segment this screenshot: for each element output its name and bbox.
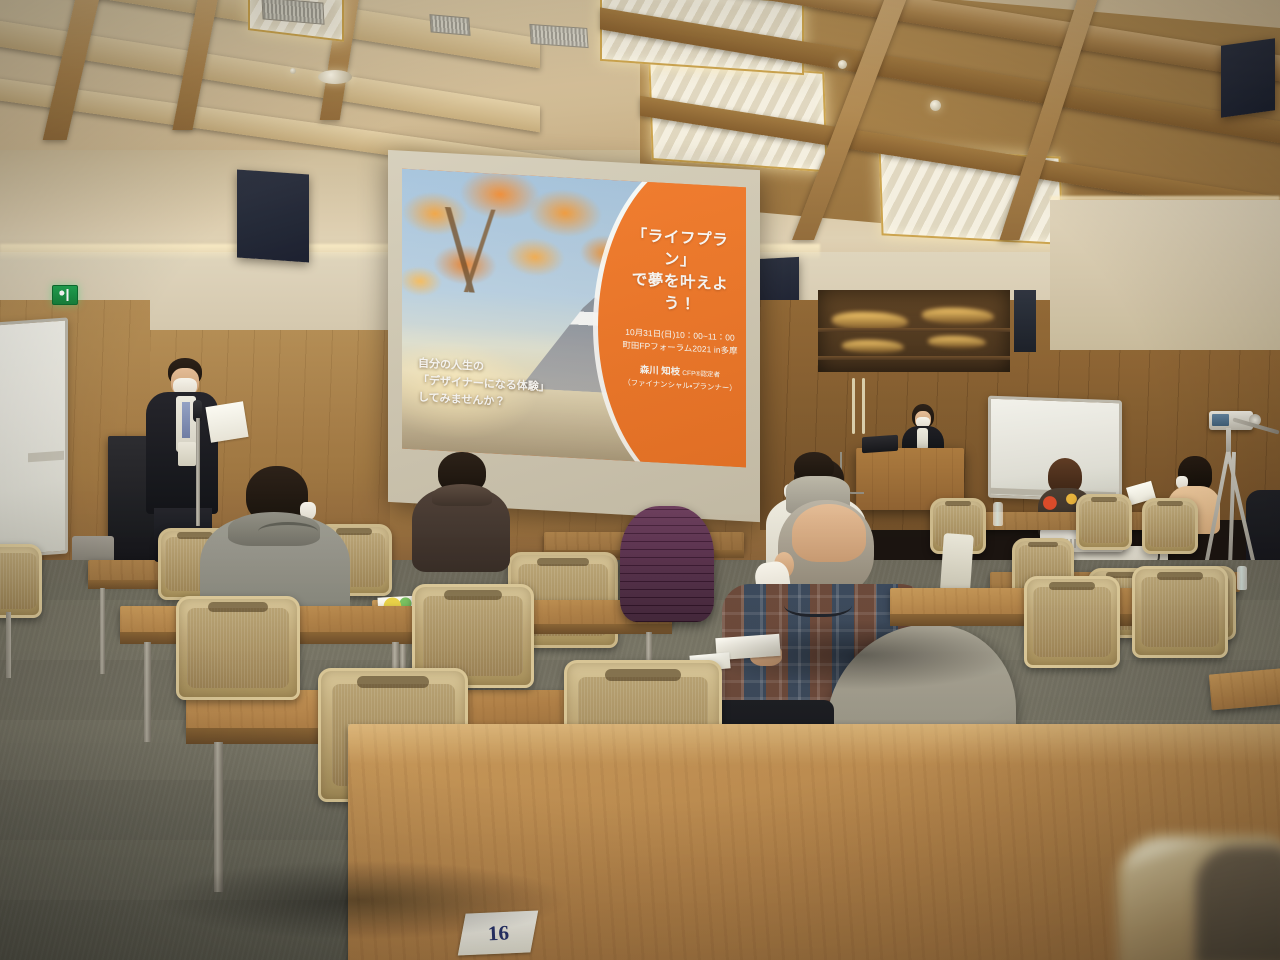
wall-speaker-panel-left xyxy=(237,169,309,262)
water-bottle xyxy=(993,502,1003,526)
ceiling-downlight-3 xyxy=(838,60,847,69)
alcove-slat-1 xyxy=(818,328,1010,332)
brown-hoodie-hood xyxy=(432,484,492,506)
door-handle-right-1 xyxy=(852,378,855,434)
chair-left-edge xyxy=(0,544,42,618)
emergency-exit-icon xyxy=(52,285,78,305)
chair-pad xyxy=(423,596,523,675)
mc-script-paper xyxy=(205,401,248,443)
camcorder-screen xyxy=(1212,414,1229,426)
elder-scalp xyxy=(792,504,866,562)
alcove-glow-4 xyxy=(928,336,986,348)
grey-hoodie-drawcord xyxy=(258,522,318,541)
ceiling-downlight-4 xyxy=(930,100,941,111)
chair-handle-slot xyxy=(1049,582,1095,590)
chair-pad xyxy=(1147,505,1193,548)
chair-pad xyxy=(1141,577,1220,647)
chair-handle-slot xyxy=(1091,497,1118,502)
slide-right-text-block: 「ライフプラン」 で夢を叶えよう！ 10月31日(日)10：00~11：00 町… xyxy=(620,224,740,393)
wall-speaker-panel-far-right xyxy=(1221,38,1275,118)
chair-handle-slot xyxy=(208,602,268,611)
alcove-slat-2 xyxy=(818,356,1010,360)
chair-pad xyxy=(1081,501,1127,544)
slide-speaker-name: 森川 知枝 xyxy=(640,364,680,377)
wall-upper-right-plaster xyxy=(1050,200,1280,350)
chair-handle-slot xyxy=(1157,572,1203,580)
door-handle-right-2 xyxy=(862,378,865,434)
mc-lanyard-badge xyxy=(178,442,196,466)
chair-pad xyxy=(1033,587,1112,657)
chair-back-r3 xyxy=(1142,498,1198,554)
presenter-blouse xyxy=(917,428,928,450)
alcove-glow-3 xyxy=(842,340,904,353)
ceiling-vent-3 xyxy=(529,24,588,48)
chair-right-1 xyxy=(1024,576,1120,668)
shadow-under-back-tables xyxy=(700,620,1020,690)
chair-handle-slot xyxy=(1157,501,1184,506)
shadow-under-front-table xyxy=(150,860,570,940)
water-bottle-2 xyxy=(1237,566,1247,590)
whiteboard-left xyxy=(0,317,68,558)
slide-speaker-cert: CFP®認定者 xyxy=(682,370,720,379)
chair-handle-slot xyxy=(357,676,429,688)
slide-left-text-block: 自分の人生の 「デザイナーになる体験」 してみませんか？ xyxy=(418,356,604,418)
purple-coat xyxy=(620,506,714,622)
attendee-brown-hoodie xyxy=(412,452,510,570)
chair-left-edge-legs xyxy=(6,612,11,678)
chair-back-r2 xyxy=(1076,494,1132,550)
chair-front-1 xyxy=(176,596,300,700)
ceiling-downlight-1 xyxy=(318,70,352,84)
slide-title-line-1: 「ライフプラン」 xyxy=(620,224,740,274)
elder-lanyard xyxy=(784,588,852,617)
alcove-glow-2 xyxy=(922,308,994,324)
chair-handle-slot xyxy=(605,669,681,682)
table-leg-bl-1 xyxy=(100,588,105,674)
chair-handle-slot xyxy=(1028,542,1058,548)
maple-branch xyxy=(402,205,522,295)
chair-right-2 xyxy=(1132,566,1228,658)
exit-running-man-icon xyxy=(57,289,74,300)
table-foreground-sheen xyxy=(348,724,1280,764)
ceiling-downlight-2 xyxy=(290,68,296,74)
chair-handle-slot xyxy=(444,590,503,599)
chair-pad xyxy=(0,553,37,609)
presentation-slide: 「ライフプラン」 で夢を叶えよう！ 10月31日(日)10：00~11：00 町… xyxy=(402,169,746,468)
mc-necktie xyxy=(182,402,190,438)
chair-pad xyxy=(187,608,289,687)
slide-title-line-2: で夢を叶えよう！ xyxy=(620,268,740,318)
table-leg-fl-1 xyxy=(144,642,151,742)
chair-foreground-blurred-inner xyxy=(1196,846,1280,960)
towel-on-chair xyxy=(940,533,974,591)
decorative-alcove xyxy=(818,290,1010,372)
seminar-room-photo: 「ライフプラン」 で夢を叶えよう！ 10月31日(日)10：00~11：00 町… xyxy=(0,0,1280,960)
alcove-doorway xyxy=(1014,290,1036,352)
chair-handle-slot xyxy=(537,558,590,567)
chair-handle-slot xyxy=(945,501,972,506)
slide-date-block: 10月31日(日)10：00~11：00 町田FPフォーラム2021 in多摩 xyxy=(620,325,740,357)
ceiling-vent-2 xyxy=(429,14,470,36)
laptop xyxy=(862,435,898,454)
